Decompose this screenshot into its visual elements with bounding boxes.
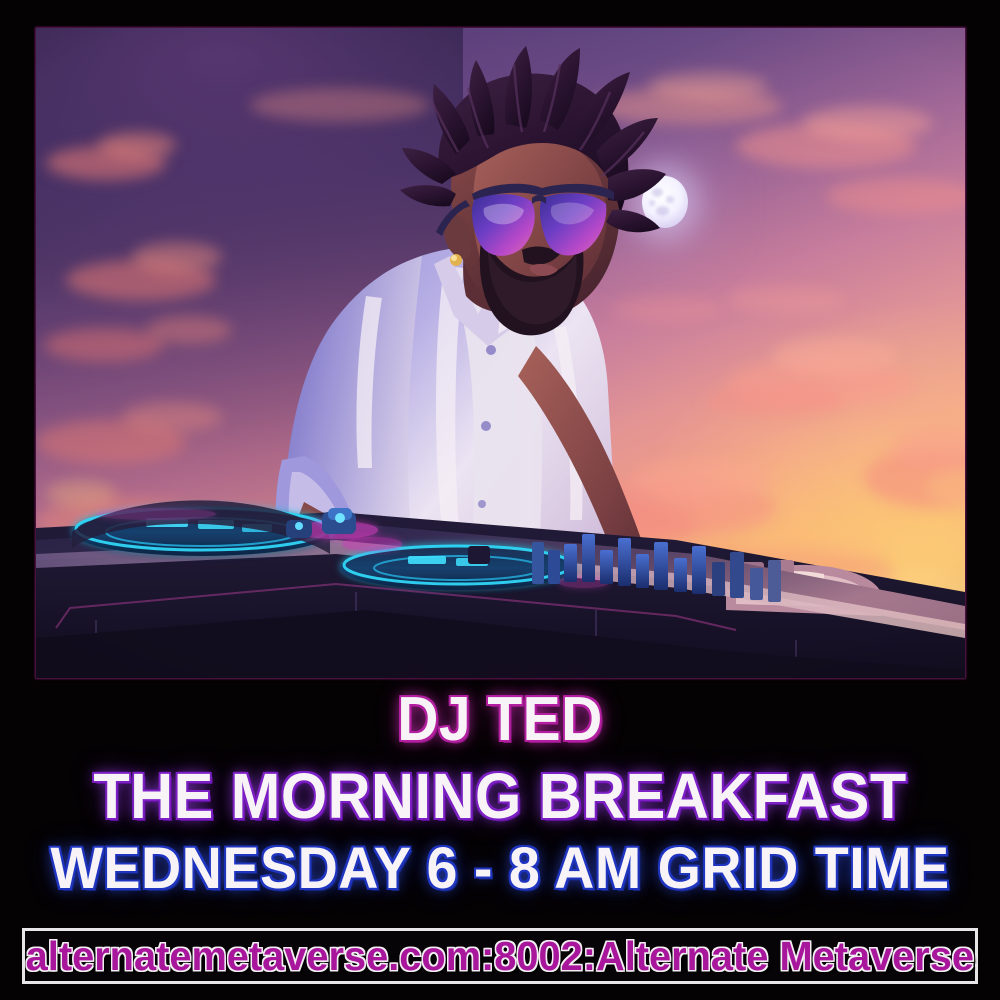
- photo-vignette: [36, 28, 965, 678]
- artwork-photo: [36, 28, 965, 678]
- headline-block: DJ TED THE MORNING BREAKFAST WEDNESDAY 6…: [0, 686, 1000, 902]
- poster-root: DJ TED THE MORNING BREAKFAST WEDNESDAY 6…: [0, 0, 1000, 1000]
- url-bar[interactable]: alternatemetaverse.com:8002:Alternate Me…: [22, 928, 978, 984]
- headline-line-3: WEDNESDAY 6 - 8 AM GRID TIME: [20, 836, 980, 902]
- headline-line-2: THE MORNING BREAKFAST: [35, 760, 965, 832]
- headline-line-1: DJ TED: [40, 686, 960, 754]
- url-text: alternatemetaverse.com:8002:Alternate Me…: [26, 934, 974, 978]
